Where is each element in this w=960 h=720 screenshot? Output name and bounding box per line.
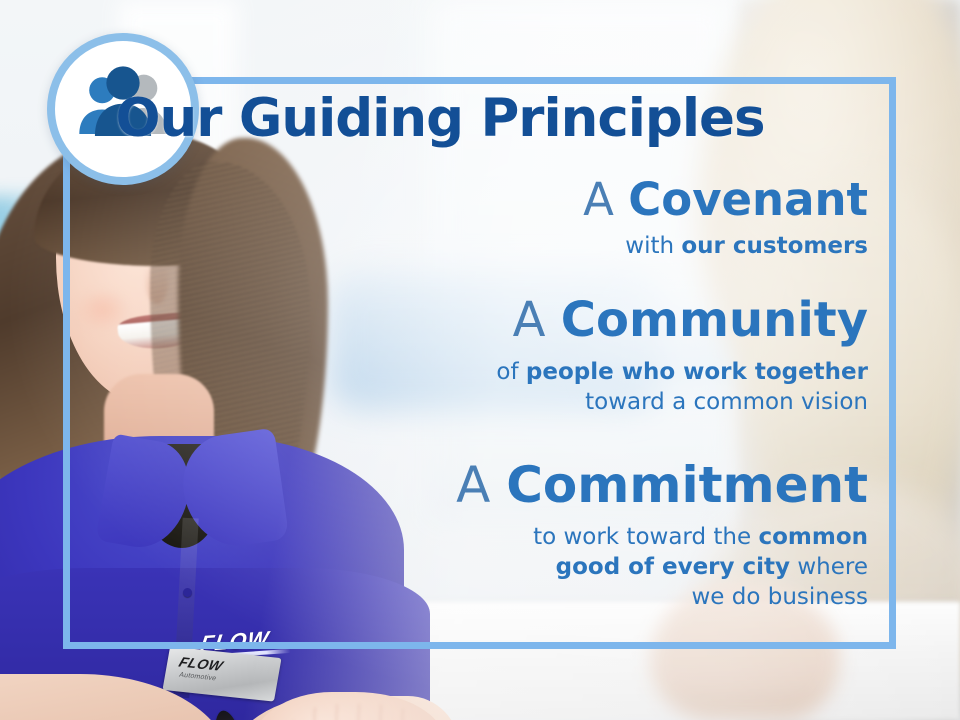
principle-covenant: A Covenant with our customers [0,176,868,261]
principle-community-title: A Community [0,295,868,347]
name-badge-subtext: Automotive [178,672,217,683]
principle-community: A Community of people who work together … [0,295,868,418]
principle-commitment-article: A [456,456,490,514]
page-title: Our Guiding Principles [0,92,880,145]
community-sub-line2: toward a common vision [585,389,868,415]
commitment-sub-line3: we do business [692,584,869,610]
principle-covenant-title: A Covenant [0,176,868,225]
principle-community-subtitle: of people who work together toward a com… [0,357,868,418]
commitment-sub-prefix: to work toward the [533,524,758,550]
covenant-sub-prefix: with [625,233,681,259]
covenant-sub-bold: our customers [681,233,868,259]
principle-covenant-subtitle: with our customers [0,231,868,261]
commitment-sub-bold2: good of every city [556,554,790,580]
principle-commitment-word: Commitment [506,456,868,514]
principles-list: A Covenant with our customers A Communit… [0,176,960,621]
principle-community-word: Community [561,292,868,348]
principle-commitment: A Commitment to work toward the common g… [0,458,868,613]
principle-covenant-article: A [583,173,614,226]
community-sub-prefix: of [496,359,525,385]
name-badge-brand: FLOW [177,654,226,674]
commitment-sub-bold1: common [758,524,868,550]
principle-community-article: A [513,292,546,348]
principle-commitment-title: A Commitment [0,458,868,512]
commitment-sub-suffix: where [790,554,868,580]
principle-covenant-word: Covenant [628,173,868,226]
principle-commitment-subtitle: to work toward the common good of every … [0,522,868,613]
community-sub-bold: people who work together [526,359,868,385]
banner-canvas: FLOW FLOW Automotive [0,0,960,720]
